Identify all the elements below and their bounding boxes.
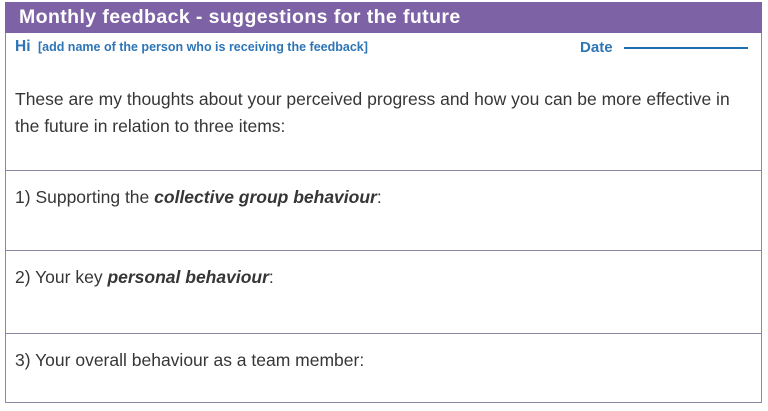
feedback-item-row-3[interactable]: 3) Your overall behaviour as a team memb… bbox=[6, 333, 761, 401]
feedback-item-label-3: 3) Your overall behaviour as a team memb… bbox=[15, 348, 364, 372]
greeting-salutation: Hi bbox=[15, 38, 31, 55]
item-trail-2: : bbox=[269, 267, 274, 287]
item-lead-2: Your key bbox=[35, 267, 102, 287]
item-emphasis-1: collective group behaviour bbox=[154, 187, 377, 207]
page-title: Monthly feedback - suggestions for the f… bbox=[19, 6, 461, 29]
feedback-item-row-2[interactable]: 2) Your key personal behaviour: bbox=[6, 250, 761, 333]
intro-row: These are my thoughts about your perceiv… bbox=[6, 66, 761, 170]
date-input-rule[interactable] bbox=[624, 47, 748, 49]
intro-paragraph: These are my thoughts about your perceiv… bbox=[15, 86, 755, 140]
form-body-frame: Hi [add name of the person who is receiv… bbox=[5, 33, 762, 403]
item-number-1: 1) bbox=[15, 187, 31, 207]
date-label: Date bbox=[580, 39, 613, 56]
recipient-name-placeholder[interactable]: [add name of the person who is receiving… bbox=[38, 40, 368, 54]
feedback-item-label-2: 2) Your key personal behaviour: bbox=[15, 265, 274, 289]
item-lead-1: Supporting the bbox=[35, 187, 149, 207]
feedback-item-label-1: 1) Supporting the collective group behav… bbox=[15, 185, 382, 209]
feedback-item-row-1[interactable]: 1) Supporting the collective group behav… bbox=[6, 170, 761, 250]
item-emphasis-2: personal behaviour bbox=[107, 267, 268, 287]
date-field-group: Date bbox=[580, 39, 748, 57]
item-trail-1: : bbox=[377, 187, 382, 207]
greeting-group: Hi [add name of the person who is receiv… bbox=[15, 38, 368, 56]
greeting-row: Hi [add name of the person who is receiv… bbox=[6, 33, 761, 66]
feedback-form-sheet: Monthly feedback - suggestions for the f… bbox=[0, 0, 768, 411]
item-lead-3: Your overall behaviour as a team member: bbox=[35, 350, 364, 370]
form-title-bar: Monthly feedback - suggestions for the f… bbox=[5, 2, 762, 33]
item-number-2: 2) bbox=[15, 267, 31, 287]
item-number-3: 3) bbox=[15, 350, 31, 370]
